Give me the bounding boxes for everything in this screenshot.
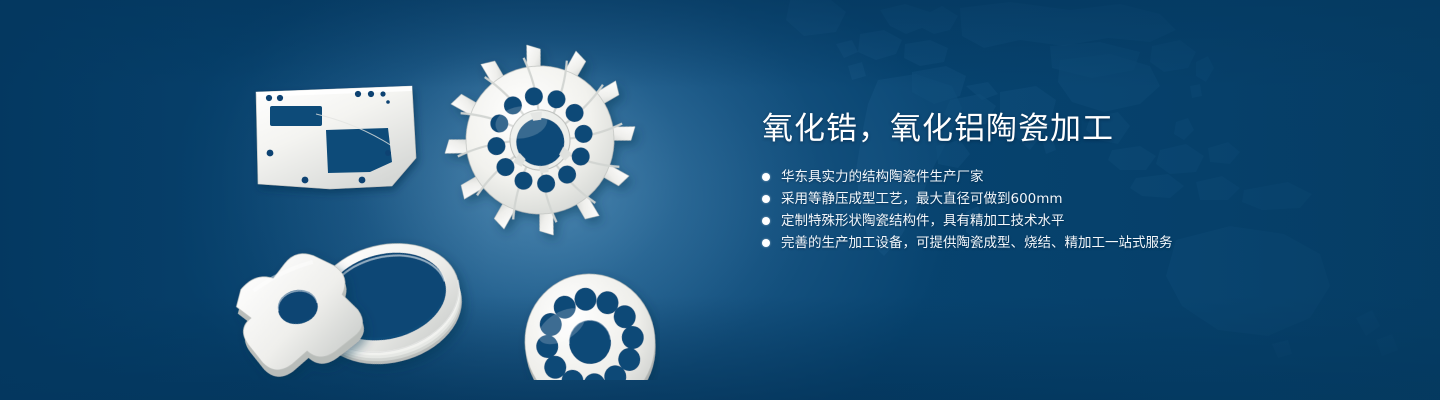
product-machined-ceramic-plate [256,86,416,189]
bullet-dot-icon [762,217,770,225]
product-ceramic-impeller-disc [432,40,649,248]
feature-text: 采用等静压成型工艺，最大直径可做到600mm [781,192,1063,207]
page-title: 氧化锆，氧化铝陶瓷加工 [762,112,1382,148]
list-item: 华东具实力的结构陶瓷件生产厂家 [762,170,1382,185]
feature-text: 定制特殊形状陶瓷结构件，具有精加工技术水平 [781,214,1065,229]
banner-text-column: 氧化锆，氧化铝陶瓷加工 华东具实力的结构陶瓷件生产厂家 采用等静压成型工艺，最大… [762,112,1382,258]
bullet-dot-icon [762,239,770,247]
list-item: 采用等静压成型工艺，最大直径可做到600mm [762,192,1382,207]
hero-banner: 氧化锆，氧化铝陶瓷加工 华东具实力的结构陶瓷件生产厂家 采用等静压成型工艺，最大… [0,0,1440,400]
list-item: 完善的生产加工设备，可提供陶瓷成型、烧结、精加工一站式服务 [762,236,1382,251]
feature-text: 华东具实力的结构陶瓷件生产厂家 [781,170,984,185]
feature-text: 完善的生产加工设备，可提供陶瓷成型、烧结、精加工一站式服务 [781,236,1173,251]
list-item: 定制特殊形状陶瓷结构件，具有精加工技术水平 [762,214,1382,229]
feature-list: 华东具实力的结构陶瓷件生产厂家 采用等静压成型工艺，最大直径可做到600mm 定… [762,170,1382,251]
product-perforated-ceramic-disc [518,268,660,380]
bullet-dot-icon [762,195,770,203]
bullet-dot-icon [762,173,770,181]
ceramic-products-collage [230,40,660,380]
